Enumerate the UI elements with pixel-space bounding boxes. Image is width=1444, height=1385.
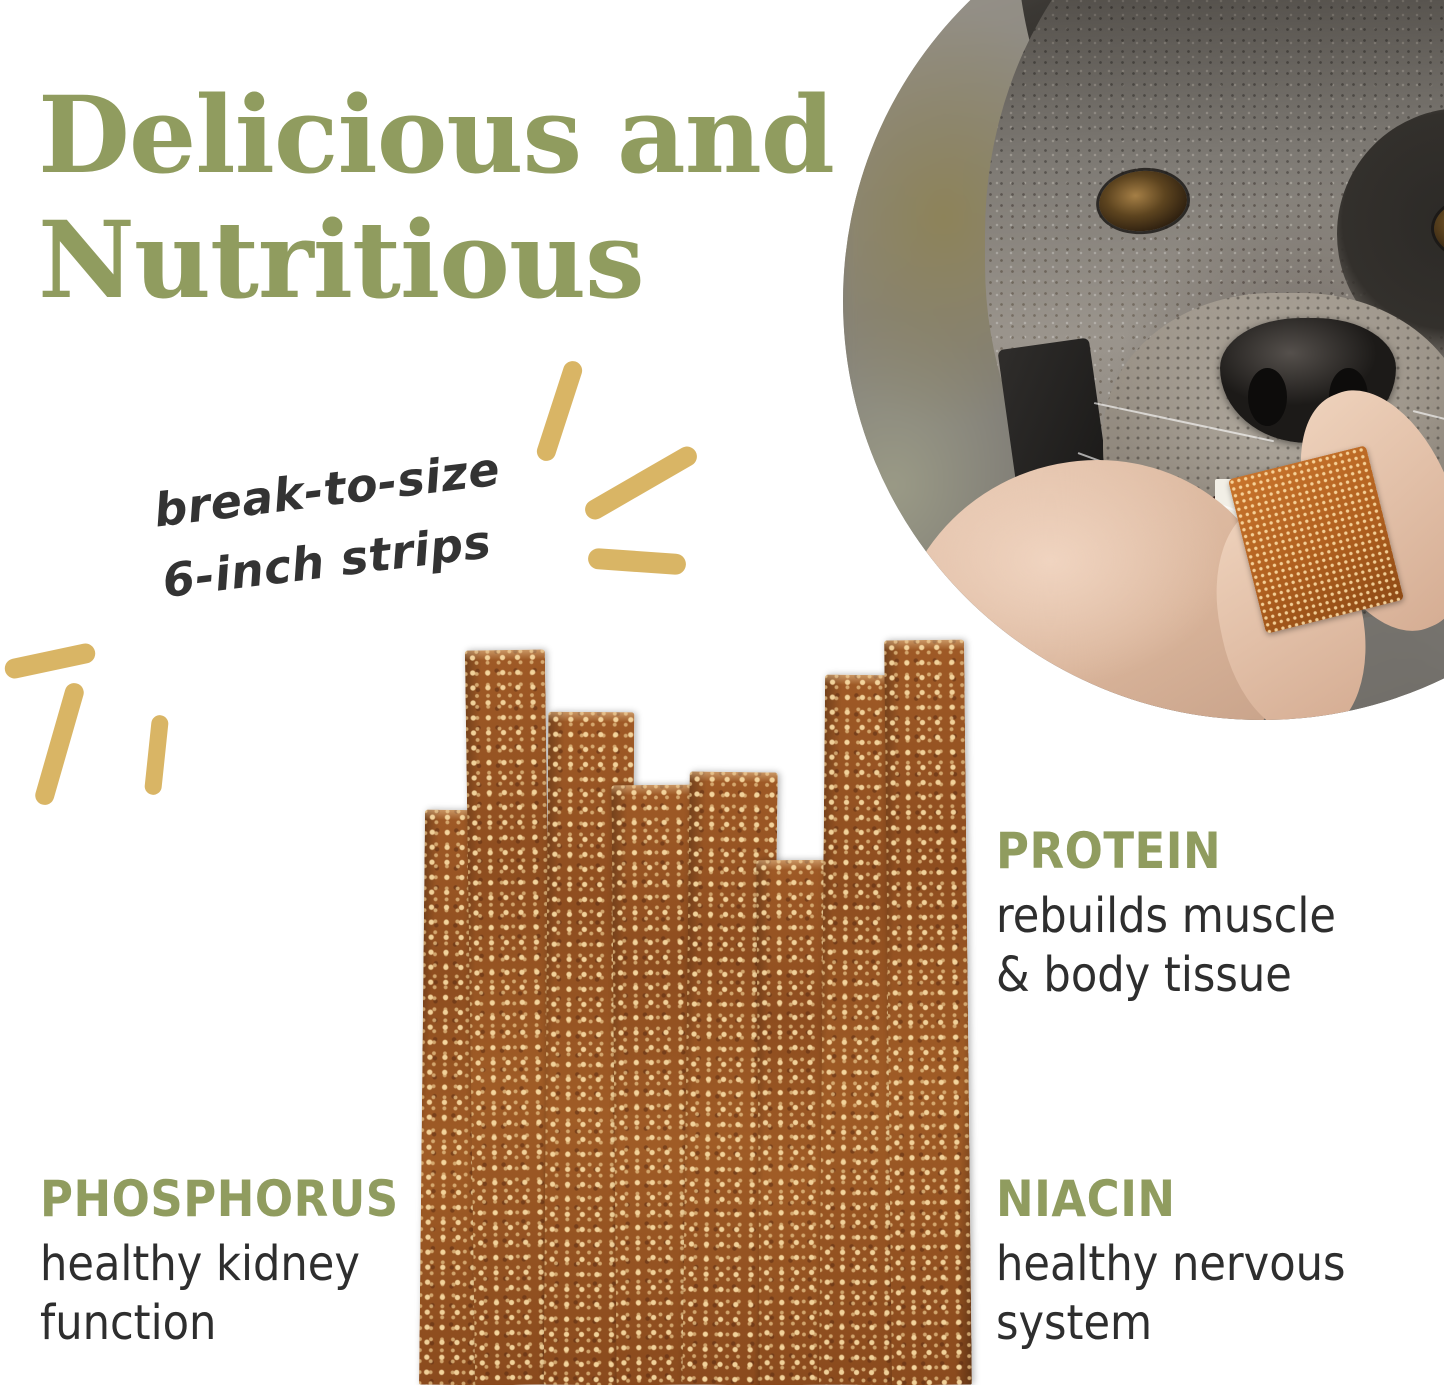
sparkle-stroke (534, 359, 584, 464)
sparkle-burst-left (0, 615, 200, 830)
benefit-desc-line: system (996, 1294, 1416, 1353)
sparkle-burst-top (530, 355, 715, 585)
callout-break-to-size: break-to-size 6-inch strips (150, 430, 545, 618)
photo-inner (843, 0, 1444, 720)
dog-photo (843, 0, 1444, 720)
product-infographic: Delicious and Nutritious break-to-size 6… (0, 0, 1444, 1385)
benefit-phosphorus-desc: healthy kidney function (40, 1235, 460, 1352)
jerky-strip (884, 640, 972, 1385)
sparkle-stroke (587, 548, 686, 576)
benefit-protein-title: PROTEIN (996, 826, 1416, 877)
benefit-protein-desc: rebuilds muscle & body tissue (996, 887, 1416, 1004)
benefit-niacin: NIACIN healthy nervous system (996, 1174, 1416, 1352)
benefit-desc-line: healthy nervous (996, 1235, 1416, 1294)
nostril-left (1248, 368, 1287, 426)
product-strips (418, 630, 978, 1385)
sparkle-stroke (3, 642, 97, 681)
benefit-desc-line: rebuilds muscle (996, 887, 1416, 946)
benefit-phosphorus: PHOSPHORUS healthy kidney function (40, 1174, 460, 1352)
benefit-desc-line: healthy kidney (40, 1235, 460, 1294)
jerky-strip (465, 649, 555, 1385)
benefit-desc-line: function (40, 1294, 460, 1353)
sparkle-stroke (33, 681, 86, 807)
sparkle-stroke (144, 714, 169, 795)
benefit-protein: PROTEIN rebuilds muscle & body tissue (996, 826, 1416, 1004)
benefit-desc-line: & body tissue (996, 946, 1416, 1005)
page-title: Delicious and Nutritious (38, 72, 858, 322)
benefit-phosphorus-title: PHOSPHORUS (40, 1174, 460, 1225)
sparkle-stroke (581, 443, 700, 523)
benefit-niacin-desc: healthy nervous system (996, 1235, 1416, 1352)
headline-line-2: Nutritious (38, 197, 858, 322)
headline-line-1: Delicious and (38, 72, 858, 197)
benefit-niacin-title: NIACIN (996, 1174, 1416, 1225)
